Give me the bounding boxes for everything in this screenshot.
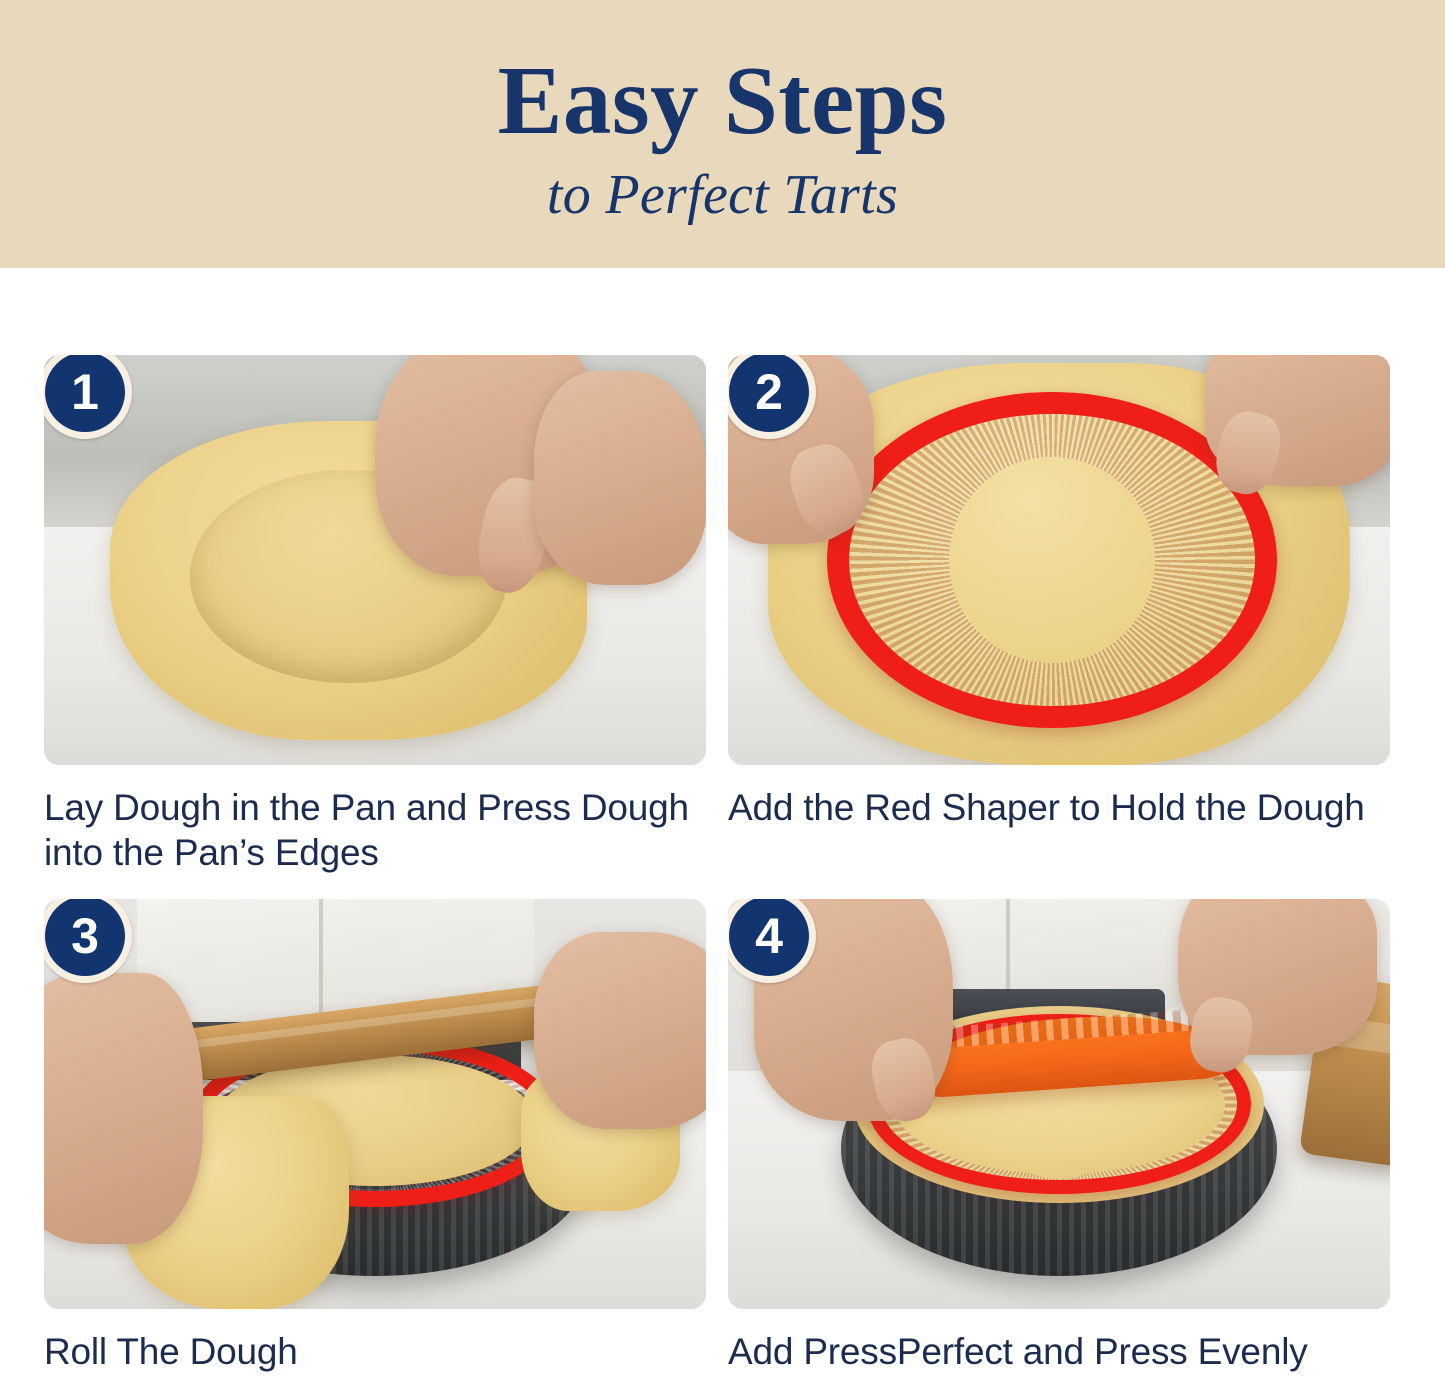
step-3-photo: 3: [44, 899, 706, 1309]
scene-add-red-shaper: [728, 355, 1390, 765]
scene-lay-dough: [44, 355, 706, 765]
hand-left: [44, 973, 203, 1244]
steps-grid: 1 Lay Dough in the Pan and Press Dough i…: [44, 355, 1390, 1374]
hand-left: [534, 371, 706, 584]
step-caption-3: Roll The Dough: [44, 1329, 689, 1374]
page-title: Easy Steps: [498, 52, 948, 149]
step-caption-1: Lay Dough in the Pan and Press Dough int…: [44, 785, 689, 875]
hand-right: [534, 932, 706, 1129]
ring-fluting-texture: [849, 414, 1255, 706]
header-band: Easy Steps to Perfect Tarts: [0, 0, 1445, 268]
step-card-2: 2 Add the Red Shaper to Hold the Dough: [728, 355, 1390, 875]
scene-roll-dough: [44, 899, 706, 1309]
step-caption-2: Add the Red Shaper to Hold the Dough: [728, 785, 1373, 830]
step-card-3: 3 Roll The Dough: [44, 899, 706, 1374]
step-1-photo: 1: [44, 355, 706, 765]
step-caption-4: Add PressPerfect and Press Evenly: [728, 1329, 1373, 1374]
step-2-photo: 2: [728, 355, 1390, 765]
step-4-photo: 4: [728, 899, 1390, 1309]
step-card-4: 4 Add PressPerfect and Press Evenly: [728, 899, 1390, 1374]
page-subtitle: to Perfect Tarts: [547, 167, 898, 223]
step-card-1: 1 Lay Dough in the Pan and Press Dough i…: [44, 355, 706, 875]
scene-press-perfect: [728, 899, 1390, 1309]
